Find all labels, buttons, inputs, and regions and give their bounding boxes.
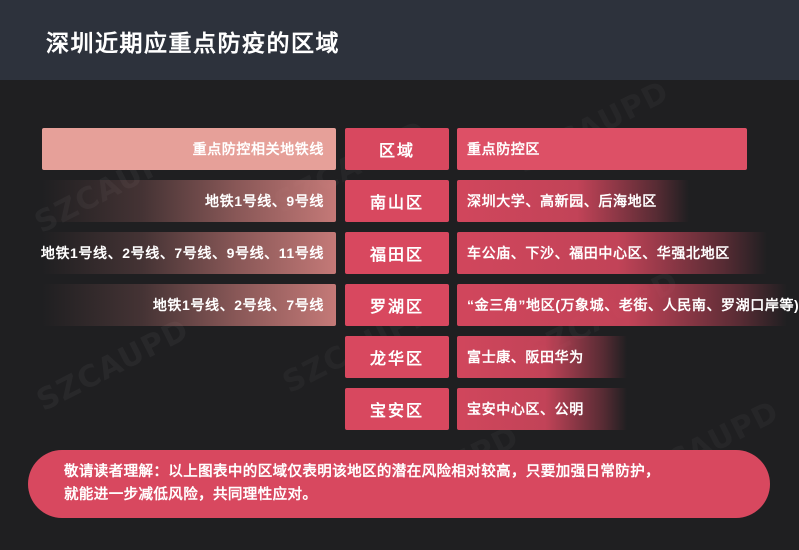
- cell-key-control-area: 深圳大学、高新园、后海地区: [457, 180, 689, 222]
- disclaimer-line-1: 敬请读者理解：以上图表中的区域仅表明该地区的潜在风险相对较高，只要加强日常防护，: [64, 461, 734, 484]
- disclaimer-note: 敬请读者理解：以上图表中的区域仅表明该地区的潜在风险相对较高，只要加强日常防护，…: [28, 450, 770, 518]
- table-row: 地铁1号线、2号线、7号线 罗湖区 “金三角”地区(万象城、老街、人民南、罗湖口…: [0, 284, 799, 332]
- cell-key-control-area: 车公庙、下沙、福田中心区、华强北地区: [457, 232, 767, 274]
- infographic-page: SZCAUPD SZCAUPD SZCAUPD SZCAUPD SZCAUPD …: [0, 0, 799, 550]
- column-header-key-control-area: 重点防控区: [457, 128, 747, 170]
- cell-key-control-area: 富士康、阪田华为: [457, 336, 627, 378]
- column-header-subway-lines: 重点防控相关地铁线: [42, 128, 336, 170]
- cell-key-control-area: 宝安中心区、公明: [457, 388, 627, 430]
- cell-key-control-area: “金三角”地区(万象城、老街、人民南、罗湖口岸等): [457, 284, 787, 326]
- page-title: 深圳近期应重点防疫的区域: [46, 24, 340, 58]
- table-row: 龙华区 富士康、阪田华为: [0, 336, 799, 384]
- table-row: 宝安区 宝安中心区、公明: [0, 388, 799, 436]
- cell-subway-lines: 地铁1号线、2号线、7号线: [42, 284, 336, 326]
- title-band: 深圳近期应重点防疫的区域: [0, 0, 799, 80]
- cell-district: 宝安区: [345, 388, 449, 430]
- cell-district: 龙华区: [345, 336, 449, 378]
- table-row: 地铁1号线、9号线 南山区 深圳大学、高新园、后海地区: [0, 180, 799, 228]
- table-header-row: 重点防控相关地铁线 区域 重点防控区: [0, 128, 799, 176]
- disclaimer-line-2: 就能进一步减低风险，共同理性应对。: [64, 484, 734, 507]
- risk-area-table: 重点防控相关地铁线 区域 重点防控区 地铁1号线、9号线 南山区 深圳大学、高新…: [0, 128, 799, 440]
- cell-district: 罗湖区: [345, 284, 449, 326]
- column-header-district: 区域: [345, 128, 449, 170]
- cell-subway-lines: 地铁1号线、9号线: [42, 180, 336, 222]
- cell-district: 南山区: [345, 180, 449, 222]
- cell-district: 福田区: [345, 232, 449, 274]
- cell-subway-lines: 地铁1号线、2号线、7号线、9号线、11号线: [42, 232, 336, 274]
- table-row: 地铁1号线、2号线、7号线、9号线、11号线 福田区 车公庙、下沙、福田中心区、…: [0, 232, 799, 280]
